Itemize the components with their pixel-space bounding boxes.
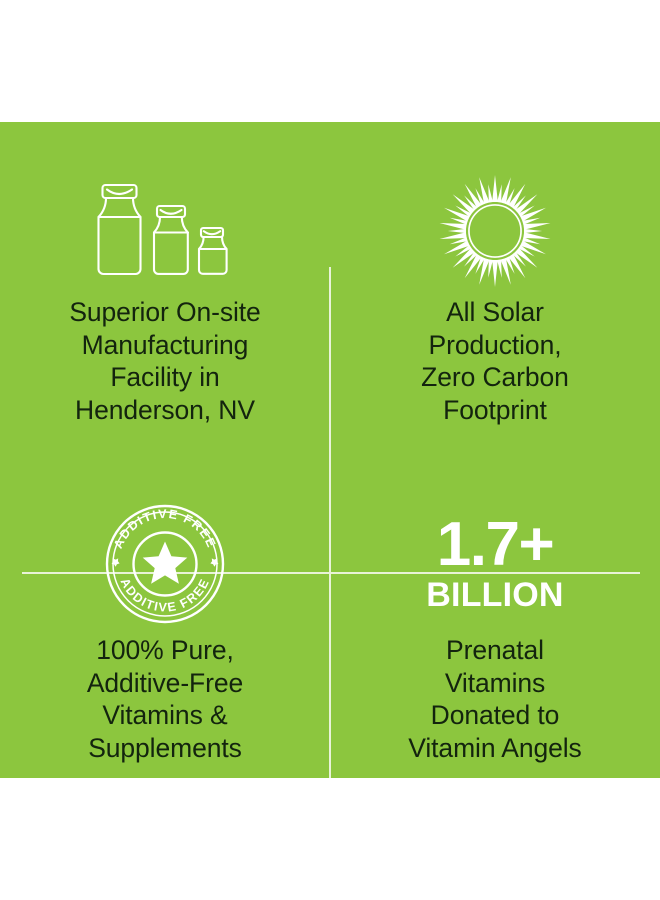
feature-caption-manufacturing: Superior On-site Manufacturing Facility … [69,296,260,426]
stat-number: 1.7+ [437,516,553,573]
additive-free-badge-icon: ADDITIVE FREE ADDITIVE FREE [102,494,228,634]
green-feature-panel: Superior On-site Manufacturing Facility … [0,122,660,778]
feature-panel-page: Superior On-site Manufacturing Facility … [0,0,660,900]
stat-stack: 1.7+ BILLION [426,516,563,611]
stat-unit: BILLION [426,578,563,612]
feature-grid: Superior On-site Manufacturing Facility … [0,122,660,778]
feature-cell-additive-free: ADDITIVE FREE ADDITIVE FREE 100% Pure, A… [0,450,330,778]
feature-cell-donation: 1.7+ BILLION Prenatal Vitamins Donated t… [330,450,660,778]
feature-cell-solar: All Solar Production, Zero Carbon Footpr… [330,122,660,450]
feature-cell-manufacturing: Superior On-site Manufacturing Facility … [0,122,330,450]
sun-icon [435,166,555,296]
donation-stat: 1.7+ BILLION [426,494,563,634]
feature-caption-solar: All Solar Production, Zero Carbon Footpr… [421,296,569,426]
bottles-icon [90,166,240,296]
feature-caption-additive-free: 100% Pure, Additive-Free Vitamins & Supp… [87,634,243,764]
feature-caption-donation: Prenatal Vitamins Donated to Vitamin Ang… [408,634,581,764]
